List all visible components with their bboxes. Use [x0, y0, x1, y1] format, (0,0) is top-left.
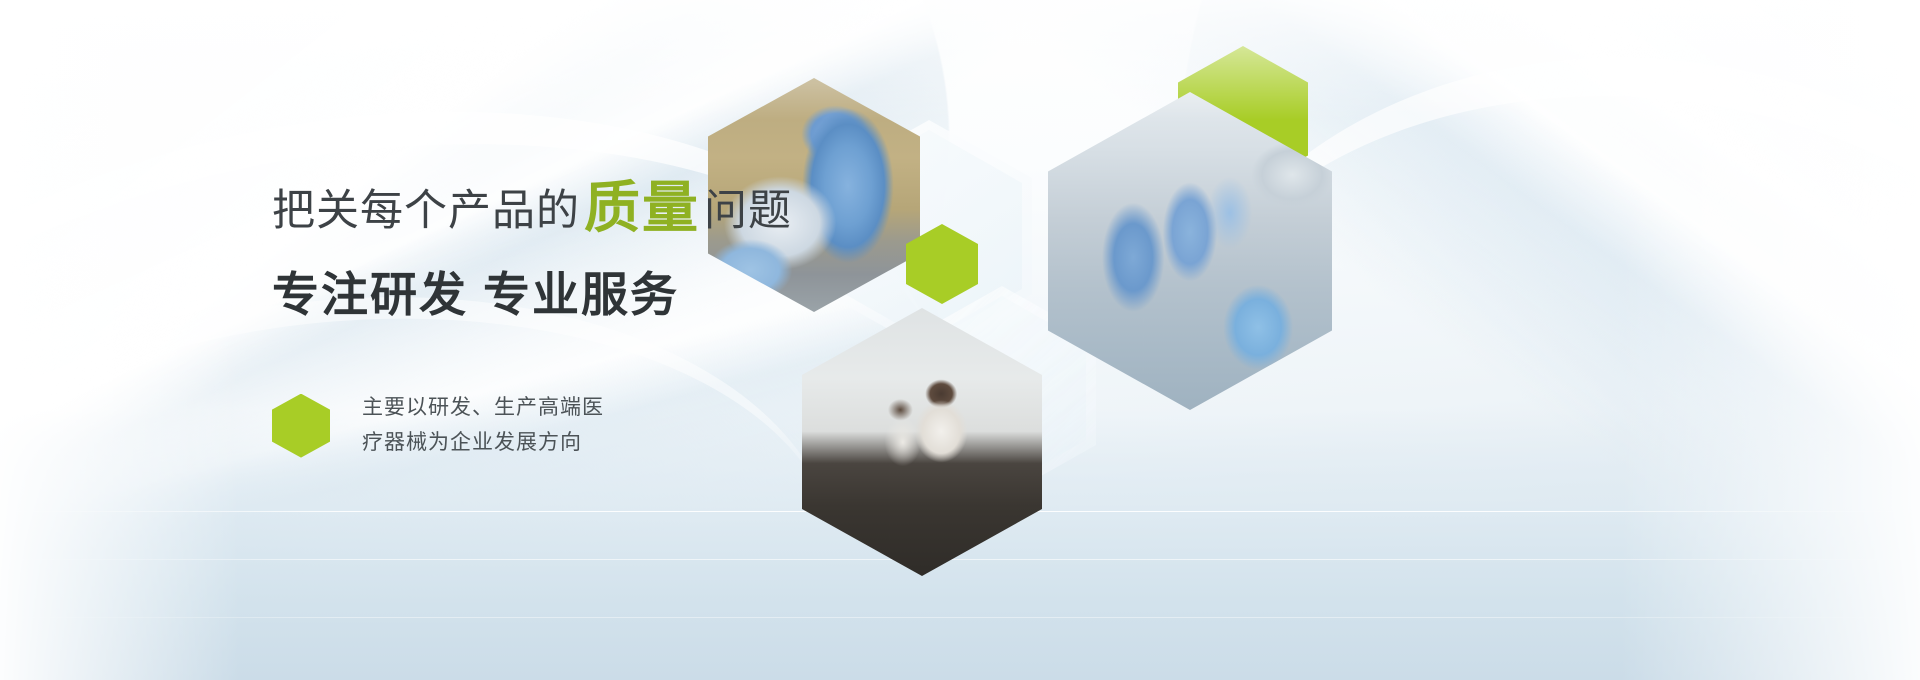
headline-accent: 质量 — [584, 180, 700, 236]
subtitle-line-1: 主要以研发、生产高端医 — [362, 391, 604, 426]
hero-banner: 把关每个产品的 质量 问题 专注研发 专业服务 主要以研发、生产高端医 疗器械为… — [0, 0, 1920, 680]
vignette-right — [1620, 0, 1920, 680]
headline-suffix: 问题 — [704, 190, 792, 233]
subtitle-text: 主要以研发、生产高端医 疗器械为企业发展方向 — [362, 391, 604, 460]
headline-secondary: 专注研发 专业服务 — [272, 256, 912, 325]
headline-primary: 把关每个产品的 质量 问题 — [272, 178, 912, 234]
banner-copy: 把关每个产品的 质量 问题 专注研发 专业服务 主要以研发、生产高端医 疗器械为… — [272, 178, 912, 460]
vignette-left — [0, 0, 240, 680]
subtitle-line-2: 疗器械为企业发展方向 — [362, 426, 604, 461]
headline-prefix: 把关每个产品的 — [272, 190, 580, 233]
hexagon-bullet-icon — [272, 394, 330, 458]
subtitle-row: 主要以研发、生产高端医 疗器械为企业发展方向 — [272, 391, 912, 460]
